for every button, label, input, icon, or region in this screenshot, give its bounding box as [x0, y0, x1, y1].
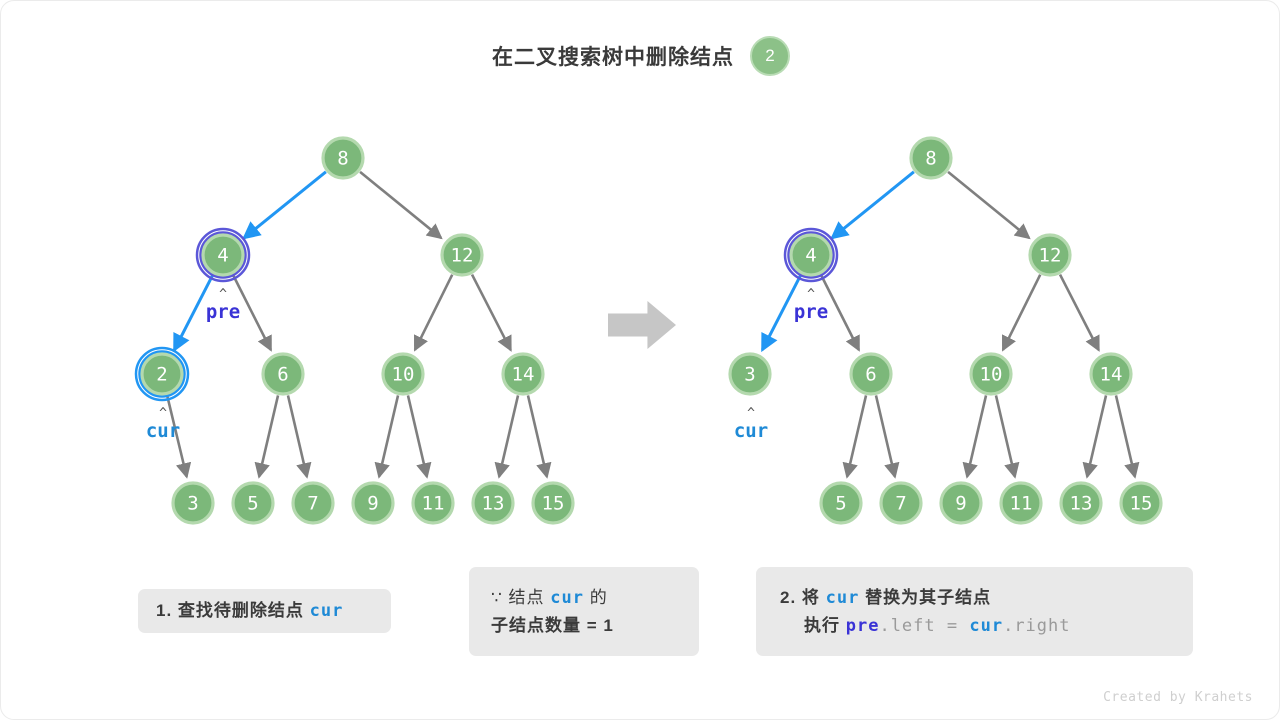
tree-edge [408, 395, 427, 476]
node-value: 11 [422, 493, 445, 515]
node-value: 2 [156, 364, 167, 386]
tree-node: 15 [533, 483, 573, 523]
pointer-caret-icon: ^ [219, 287, 227, 302]
credit-text: Created by Krahets [1103, 690, 1253, 705]
pointer-label-cur: ^cur [734, 406, 768, 442]
caption-step-2-line-1: 2. 将 cur 替换为其子结点 [780, 584, 1169, 612]
tree-edge [876, 395, 895, 476]
tree-node: 9 [941, 483, 981, 523]
tree-edge [499, 395, 518, 476]
tree-node: 8 [911, 138, 951, 178]
tree-edge [360, 172, 441, 238]
pointer-caret-icon: ^ [807, 287, 815, 302]
tree-node: 2 [136, 348, 188, 400]
tree-node: 12 [1030, 235, 1070, 275]
node-value: 10 [980, 364, 1003, 386]
tree-node: 10 [971, 354, 1011, 394]
caption-step-2-line-2: 执行 pre.left = cur.right [780, 612, 1169, 640]
right-tree-edges [762, 172, 1135, 477]
tree-edge [996, 395, 1015, 476]
node-value: 6 [865, 364, 876, 386]
tree-node: 11 [413, 483, 453, 523]
transition-arrow-icon [608, 301, 676, 349]
caption-reason-line-2: 子结点数量 = 1 [491, 612, 614, 640]
step-transition-arrow [608, 301, 676, 349]
caption-step-2-cur-token-2: cur [969, 616, 1003, 636]
node-value: 8 [925, 148, 936, 170]
tree-node: 7 [881, 483, 921, 523]
tree-node: 4 [785, 229, 837, 281]
tree-node: 6 [263, 354, 303, 394]
tree-node: 14 [503, 354, 543, 394]
caption-step-2-cur-token: cur [826, 588, 860, 608]
tree-edge [472, 275, 511, 350]
node-value: 15 [1130, 493, 1153, 515]
pointer-caret-icon: ^ [159, 406, 167, 421]
caption-reason-line-1: ∵ 结点 cur 的 [491, 584, 608, 612]
tree-node: 14 [1091, 354, 1131, 394]
caption-step-2-exec-prefix: 执行 [804, 616, 846, 635]
node-value: 12 [451, 245, 474, 267]
tree-node: 8 [323, 138, 363, 178]
tree-edge [1060, 275, 1099, 350]
right-tree-nodes: 8412361014579111315 [730, 138, 1161, 523]
node-value: 7 [307, 493, 318, 515]
tree-node: 15 [1121, 483, 1161, 523]
caption-step-2-right-field: .right [1003, 616, 1070, 636]
node-value: 13 [1070, 493, 1093, 515]
node-value: 4 [217, 245, 228, 267]
tree-edge [1003, 275, 1040, 350]
caption-reason-suffix: 的 [584, 588, 608, 607]
diagram-page: 在二叉搜索树中删除结点 2 84122610143579111315 ^pre^… [0, 0, 1280, 720]
caption-step-2-prefix: 2. 将 [780, 588, 826, 607]
tree-edge [1116, 395, 1135, 476]
tree-edge [528, 395, 547, 476]
caption-step-2: 2. 将 cur 替换为其子结点 执行 pre.left = cur.right [756, 567, 1193, 656]
pointer-name: pre [206, 301, 240, 323]
node-value: 14 [512, 364, 535, 386]
tree-edge [259, 395, 278, 476]
pointer-label-pre: ^pre [206, 287, 240, 323]
tree-node: 11 [1001, 483, 1041, 523]
tree-node: 3 [730, 354, 770, 394]
node-value: 9 [955, 493, 966, 515]
tree-node: 13 [1061, 483, 1101, 523]
caption-step-1-prefix: 1. 查找待删除结点 [156, 601, 310, 620]
caption-step-2-pre-token: pre [846, 616, 880, 636]
caption-step-2-equals: = [936, 616, 970, 636]
tree-node: 9 [353, 483, 393, 523]
caption-step-2-suffix: 替换为其子结点 [859, 588, 991, 607]
tree-edge [244, 172, 326, 238]
pointer-label-pre: ^pre [794, 287, 828, 323]
caption-step-1-line: 1. 查找待删除结点 cur [156, 597, 373, 625]
left-tree-nodes: 84122610143579111315 [136, 138, 573, 523]
tree-node: 10 [383, 354, 423, 394]
left-tree-edges [167, 172, 547, 477]
caption-step-1: 1. 查找待删除结点 cur [138, 589, 391, 633]
tree-node: 3 [173, 483, 213, 523]
tree-node: 5 [233, 483, 273, 523]
node-value: 8 [337, 148, 348, 170]
caption-reason-cur-token: cur [550, 588, 584, 608]
node-value: 10 [392, 364, 415, 386]
node-value: 7 [895, 493, 906, 515]
tree-edge [288, 395, 307, 476]
tree-edge [948, 172, 1029, 238]
caption-step-2-left-field: .left [879, 616, 935, 636]
caption-step-1-cur-token: cur [310, 601, 344, 621]
node-value: 3 [187, 493, 198, 515]
node-value: 4 [805, 245, 816, 267]
tree-node: 5 [821, 483, 861, 523]
tree-node: 6 [851, 354, 891, 394]
node-value: 6 [277, 364, 288, 386]
node-value: 14 [1100, 364, 1123, 386]
pointer-name: cur [146, 420, 180, 442]
tree-node: 12 [442, 235, 482, 275]
pointer-name: pre [794, 301, 828, 323]
node-value: 9 [367, 493, 378, 515]
caption-reason-prefix: ∵ 结点 [491, 588, 550, 607]
pointer-caret-icon: ^ [747, 406, 755, 421]
tree-edge [415, 275, 452, 350]
tree-node: 7 [293, 483, 333, 523]
caption-reason: ∵ 结点 cur 的 子结点数量 = 1 [469, 567, 699, 656]
tree-edge [832, 172, 914, 238]
tree-node: 4 [197, 229, 249, 281]
node-value: 5 [835, 493, 846, 515]
node-value: 13 [482, 493, 505, 515]
tree-node: 13 [473, 483, 513, 523]
node-value: 3 [744, 364, 755, 386]
tree-edge [967, 395, 986, 476]
node-value: 12 [1039, 245, 1062, 267]
tree-edge [847, 395, 866, 476]
pointer-name: cur [734, 420, 768, 442]
pointer-label-cur: ^cur [146, 406, 180, 442]
tree-edge [1087, 395, 1106, 476]
node-value: 11 [1010, 493, 1033, 515]
node-value: 15 [542, 493, 565, 515]
tree-edge [379, 395, 398, 476]
node-value: 5 [247, 493, 258, 515]
